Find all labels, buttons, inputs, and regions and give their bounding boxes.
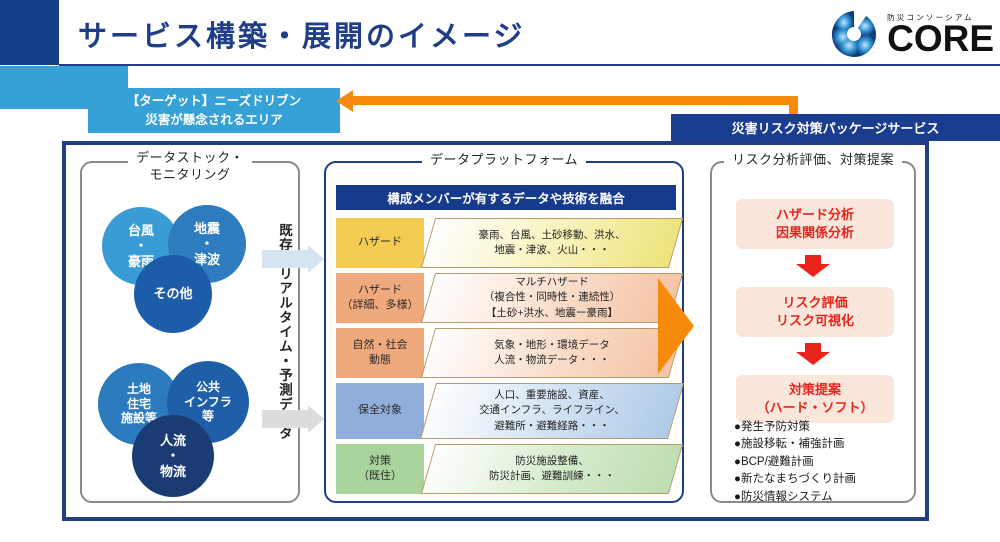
- risk-package-banner: 災害リスク対策パッケージサービス: [671, 114, 1000, 141]
- list-item: ●新たなまちづくり計画: [734, 471, 856, 488]
- row-tag: ハザード: [336, 218, 424, 268]
- analysis-step-proposal: 対策提案 （ハード・ソフト）: [736, 375, 894, 423]
- row-tag: 自然・社会 動態: [336, 328, 424, 378]
- row-tag: 対策 （既住）: [336, 444, 424, 494]
- platform-row: ハザード 豪雨、台風、土砂移動、洪水、 地震・津波、火山・・・: [336, 218, 676, 268]
- row-description: 防災施設整備、 防災計画、避難訓練・・・: [428, 444, 676, 494]
- target-box: 【ターゲット】ニーズドリブン 災害が懸念されるエリア: [88, 88, 340, 133]
- row-description: 気象・地形・環境データ 人流・物流データ・・・: [428, 328, 676, 378]
- group-label-line-1: データストック・: [136, 150, 244, 167]
- platform-row: ハザード （詳細、多様） マルチハザード （複合性・同時性・連続性） 【土砂+洪…: [336, 273, 676, 323]
- feedback-arrow-horizontal: [352, 96, 798, 105]
- group-label-line-2: モニタリング: [136, 167, 244, 184]
- brand-logo: 防災コンソーシアム CORE: [829, 6, 994, 62]
- measure-bullet-list: ●発生予防対策 ●施設移転・補強計画 ●BCP/避難計画 ●新たなまちづくり計画…: [734, 419, 856, 506]
- connector-arrow-upper: [262, 245, 324, 273]
- analysis-down-arrow-1-icon: [796, 255, 830, 277]
- analysis-step-hazard: ハザード分析 因果関係分析: [736, 199, 894, 249]
- row-description: 人口、重要施設、資産、 交通インフラ、ライフライン、 避難所・避難経路・・・: [428, 383, 676, 439]
- list-item: ●BCP/避難計画: [734, 454, 856, 471]
- group-label-risk-analysis: リスク分析評価、対策提案: [724, 152, 902, 169]
- platform-row: 保全対象 人口、重要施設、資産、 交通インフラ、ライフライン、 避難所・避難経路…: [336, 383, 676, 439]
- diagram-frame: データストック・ モニタリング 台風 ・ 豪雨 地震 ・ 津波 その他 土地 住…: [62, 141, 929, 521]
- circle-other: その他: [134, 255, 212, 333]
- platform-row: 自然・社会 動態 気象・地形・環境データ 人流・物流データ・・・: [336, 328, 676, 378]
- feedback-arrow-head-icon: [336, 90, 353, 112]
- core-swirl-icon: [829, 9, 879, 59]
- row-tag: 保全対象: [336, 383, 424, 439]
- logo-wordmark: CORE: [887, 21, 994, 56]
- edge-block-navy: [0, 0, 59, 65]
- circle-people-goods-flow: 人流 ・ 物流: [132, 415, 214, 497]
- row-description: 豪雨、台風、土砂移動、洪水、 地震・津波、火山・・・: [428, 218, 676, 268]
- group-data-platform: データプラットフォーム 構成メンバーが有するデータや技術を融合 ハザード 豪雨、…: [324, 161, 684, 503]
- list-item: ●施設移転・補強計画: [734, 436, 856, 453]
- page-title: サービス構築・展開のイメージ: [78, 13, 525, 55]
- header-divider: [59, 64, 1000, 66]
- platform-header-bar: 構成メンバーが有するデータや技術を融合: [336, 185, 676, 210]
- group-label-data-stock: データストック・ モニタリング: [128, 150, 252, 184]
- row-tag: ハザード （詳細、多様）: [336, 273, 424, 323]
- group-label-data-platform: データプラットフォーム: [422, 152, 586, 169]
- group-data-stock: データストック・ モニタリング 台風 ・ 豪雨 地震 ・ 津波 その他 土地 住…: [80, 161, 300, 503]
- target-line-2: 災害が懸念されるエリア: [145, 111, 283, 129]
- row-description: マルチハザード （複合性・同時性・連続性） 【土砂+洪水、地震ー豪雨】: [428, 273, 676, 323]
- list-item: ●防災情報システム: [734, 489, 856, 506]
- group-risk-analysis: リスク分析評価、対策提案 ハザード分析 因果関係分析 リスク評価 リスク可視化 …: [710, 161, 916, 503]
- analysis-down-arrow-2-icon: [796, 343, 830, 365]
- list-item: ●発生予防対策: [734, 419, 856, 436]
- platform-row: 対策 （既住） 防災施設整備、 防災計画、避難訓練・・・: [336, 444, 676, 494]
- target-line-1: 【ターゲット】ニーズドリブン: [127, 92, 301, 110]
- connector-arrow-lower: [262, 405, 324, 433]
- analysis-step-evaluation: リスク評価 リスク可視化: [736, 287, 894, 337]
